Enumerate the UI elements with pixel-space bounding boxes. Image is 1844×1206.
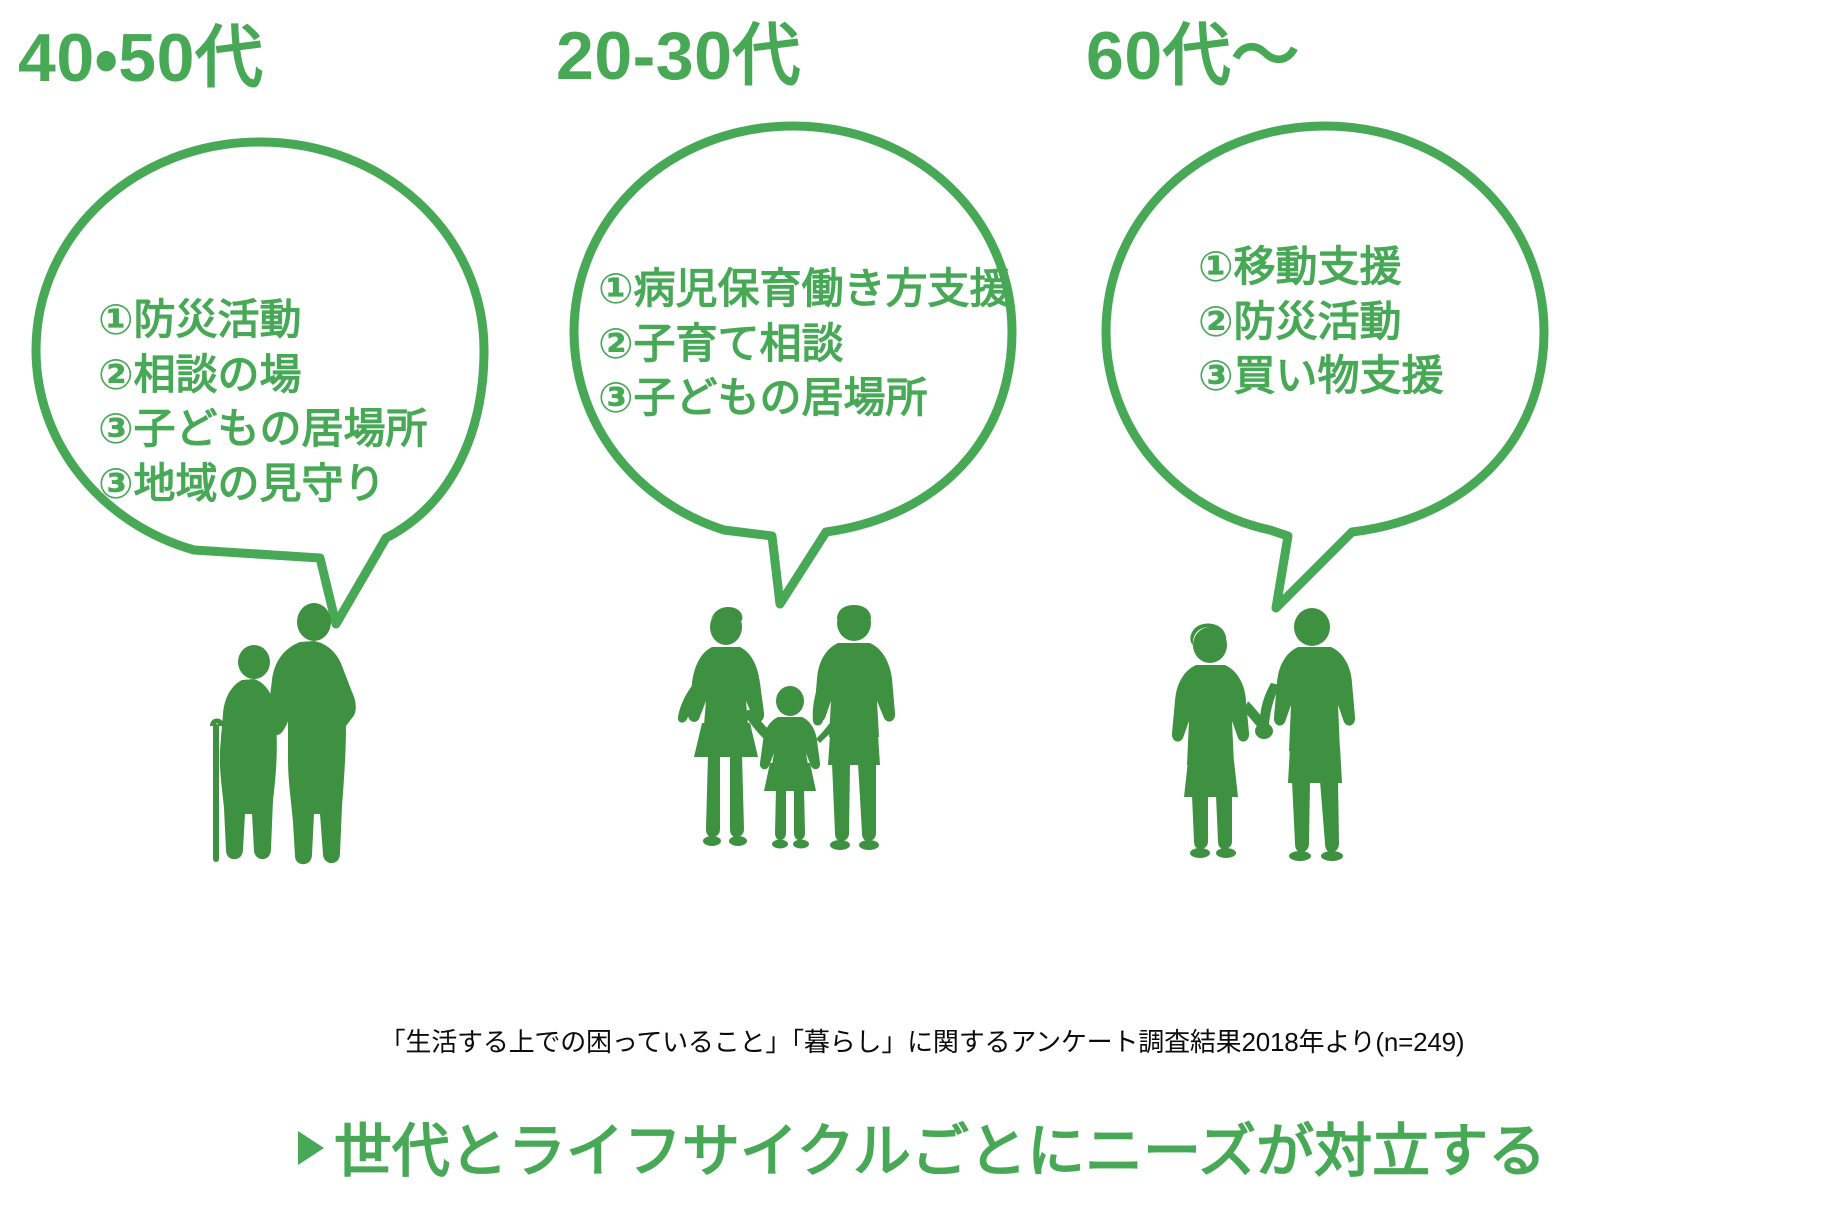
speech-bubble-20-30: ①病児保育働き方支援 ②子育て相談 ③子どもの居場所 <box>558 112 1028 612</box>
speech-bubble-60-plus: ①移動支援 ②防災活動 ③買い物支援 <box>1090 112 1560 612</box>
needs-list-20-30: ①病児保育働き方支援 ②子育て相談 ③子どもの居場所 <box>598 262 1012 426</box>
need-item: ①移動支援 <box>1198 240 1444 295</box>
figure-senior-couple <box>1152 605 1382 870</box>
senior-couple-silhouette-icon <box>1152 605 1382 870</box>
infographic-canvas: 40・50代 ①防災活動 ②相談の場 ③子どもの居場所 ③地域の見守り <box>0 0 1844 1206</box>
needs-list-40-50: ①防災活動 ②相談の場 ③子どもの居場所 ③地域の見守り <box>98 293 428 511</box>
survey-source-footnote: 「生活する上での困っていること」「暮らし」に関するアンケート調査結果2018年よ… <box>0 1022 1844 1059</box>
need-item: ②相談の場 <box>98 348 428 403</box>
need-item: ③買い物支援 <box>1198 349 1444 404</box>
need-item: ③子どもの居場所 <box>98 402 428 457</box>
need-item: ②子育て相談 <box>598 317 1012 372</box>
conclusion-statement: 世代とライフサイクルごとにニーズが対立する <box>0 1104 1844 1188</box>
figure-elderly-and-caregiver <box>196 600 396 870</box>
speech-bubble-40-50: ①防災活動 ②相談の場 ③子どもの居場所 ③地域の見守り <box>20 128 500 628</box>
need-item: ①病児保育働き方支援 <box>598 262 1012 317</box>
need-item: ①防災活動 <box>98 293 428 348</box>
age-heading-40-50: 40・50代 <box>18 24 263 92</box>
conclusion-text: 世代とライフサイクルごとにニーズが対立する <box>334 1104 1546 1188</box>
figure-family <box>668 605 908 870</box>
age-heading-20-30: 20-30代 <box>556 22 801 90</box>
need-item: ②防災活動 <box>1198 295 1444 350</box>
triangle-marker-icon <box>298 1131 324 1165</box>
needs-list-60-plus: ①移動支援 ②防災活動 ③買い物支援 <box>1198 240 1444 404</box>
need-item: ③子どもの居場所 <box>598 371 1012 426</box>
family-silhouette-icon <box>668 605 908 870</box>
need-item: ③地域の見守り <box>98 457 428 512</box>
elderly-caregiver-silhouette-icon <box>196 600 396 870</box>
age-heading-60-plus: 60代〜 <box>1086 22 1300 90</box>
